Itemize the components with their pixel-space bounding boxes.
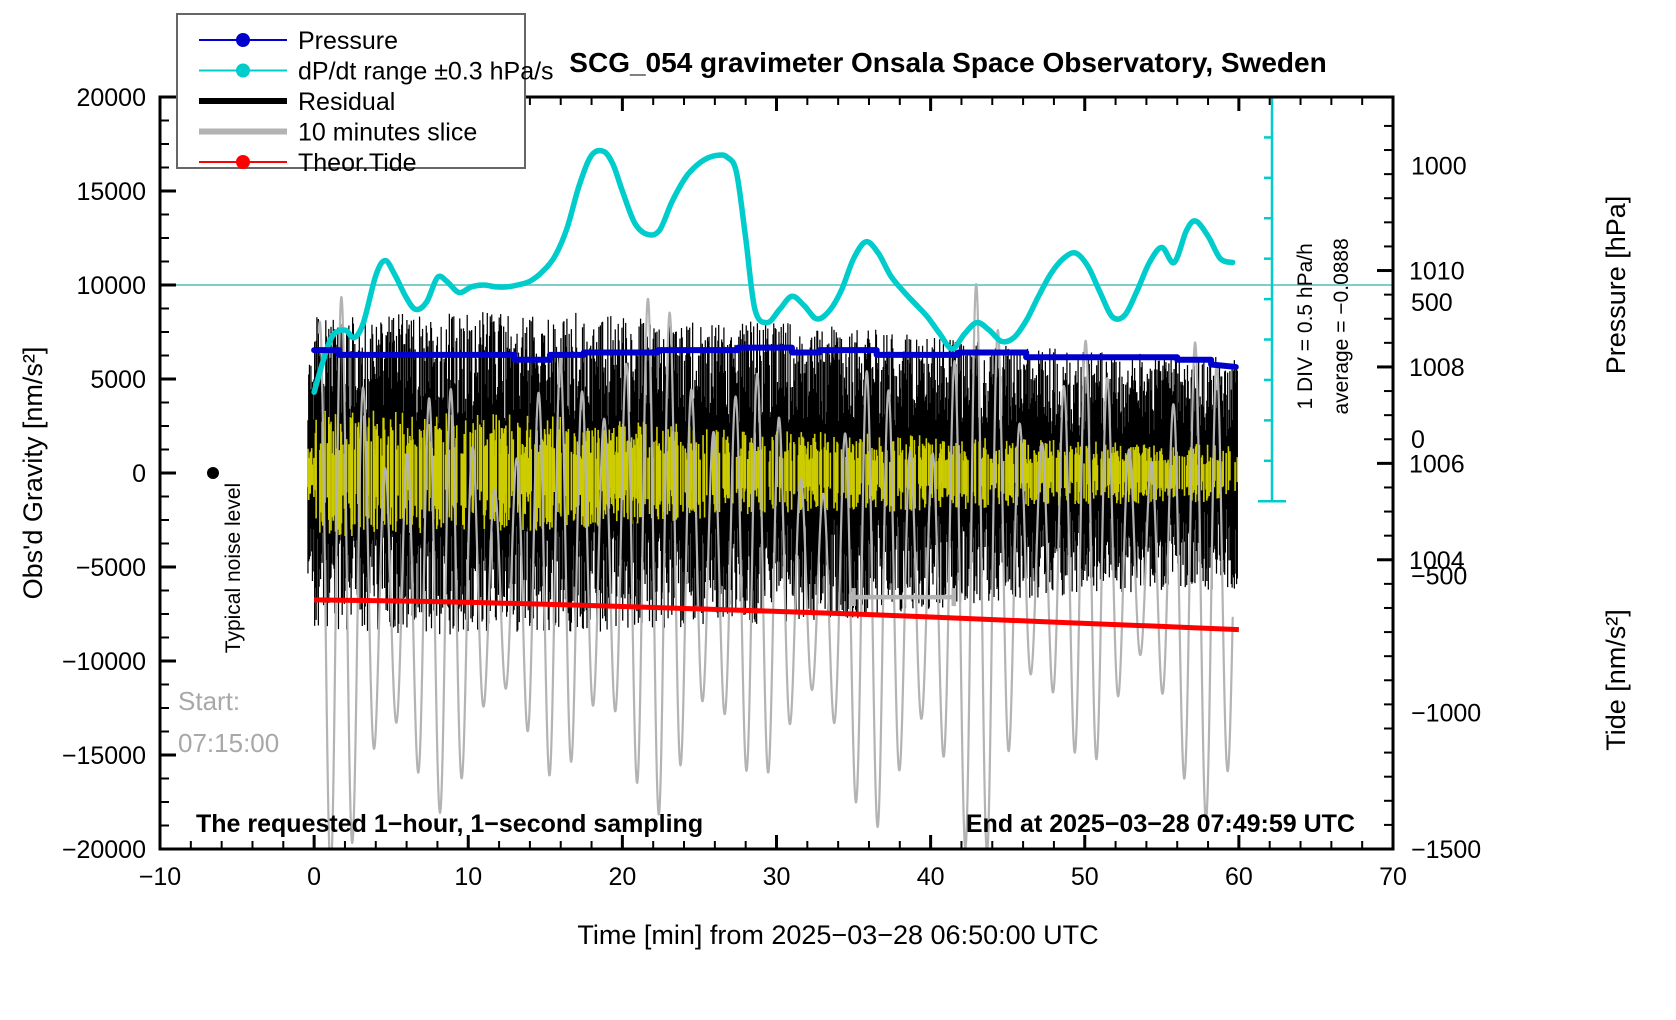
x-tick-label: 60 [1225, 863, 1253, 891]
y-right-pressure-tick-label: 1010 [1409, 258, 1465, 286]
plot-traces [160, 151, 1393, 871]
y-right-tide-tick-label: −1500 [1411, 836, 1481, 864]
x-tick-label: 40 [917, 863, 945, 891]
x-tick-label: 50 [1071, 863, 1099, 891]
y-right-pressure-axis-title: Pressure [hPa] [1601, 196, 1631, 375]
y-left-tick-label: 20000 [76, 84, 146, 112]
noise-level-dot [207, 467, 219, 479]
legend: PressuredP/dt range ±0.3 hPa/sResidual10… [177, 14, 554, 177]
y-left-tick-label: −5000 [76, 554, 146, 582]
legend-marker [236, 33, 250, 47]
y-left-tick-label: 10000 [76, 272, 146, 300]
y-right-pressure-tick-label: 1008 [1409, 354, 1465, 382]
y-right-tide-tick-label: 1000 [1411, 152, 1467, 180]
legend-item-label: Pressure [298, 27, 398, 55]
y-right-tide-axis-title: Tide [nm/s²] [1601, 609, 1631, 751]
y-left-tick-label: 15000 [76, 178, 146, 206]
y-right-tide-tick-label: −1000 [1411, 699, 1481, 727]
legend-marker [236, 155, 250, 169]
y-left-tick-label: 0 [132, 460, 146, 488]
average-note: average = −0.0888 [1330, 238, 1353, 414]
y-right-tide-tick-label: 500 [1411, 289, 1453, 317]
start-time: 07:15:00 [178, 728, 279, 758]
page-title: SCG_054 gravimeter Onsala Space Observat… [569, 47, 1326, 78]
gravimeter-plot: 1 DIV = 0.5 hPa/haverage = −0.0888−10010… [0, 0, 1676, 1020]
sampling-note: The requested 1−hour, 1−second sampling [196, 810, 703, 838]
x-tick-label: −10 [139, 863, 181, 891]
y-right-tide-tick-label: −500 [1411, 563, 1467, 591]
dpdt-scale-bar [1258, 97, 1286, 501]
start-label: Start: [178, 686, 240, 716]
legend-item-label: Theor.Tide [298, 149, 417, 177]
noise-level-label: Typical noise level [222, 483, 245, 653]
y-left-tick-label: −10000 [62, 648, 146, 676]
y-right-pressure-tick-label: 1006 [1409, 450, 1465, 478]
y-left-tick-label: 5000 [90, 366, 146, 394]
y-right-tide-tick-label: 0 [1411, 426, 1425, 454]
x-tick-label: 30 [763, 863, 791, 891]
legend-item-label: 10 minutes slice [298, 119, 477, 147]
legend-item-label: dP/dt range ±0.3 hPa/s [298, 58, 554, 86]
legend-item-label: Residual [298, 88, 395, 116]
chart-root: 1 DIV = 0.5 hPa/haverage = −0.0888−10010… [0, 0, 1676, 1020]
x-axis-title: Time [min] from 2025−03−28 06:50:00 UTC [577, 920, 1098, 950]
x-tick-label: 10 [454, 863, 482, 891]
legend-marker [236, 64, 250, 78]
y-left-tick-label: −20000 [62, 836, 146, 864]
x-tick-label: 0 [307, 863, 321, 891]
x-tick-label: 70 [1379, 863, 1407, 891]
end-note: End at 2025−03−28 07:49:59 UTC [966, 810, 1355, 838]
y-left-axis-title: Obs'd Gravity [nm/s²] [18, 347, 48, 600]
y-left-tick-label: −15000 [62, 742, 146, 770]
div-note: 1 DIV = 0.5 hPa/h [1294, 243, 1317, 409]
x-tick-label: 20 [608, 863, 636, 891]
